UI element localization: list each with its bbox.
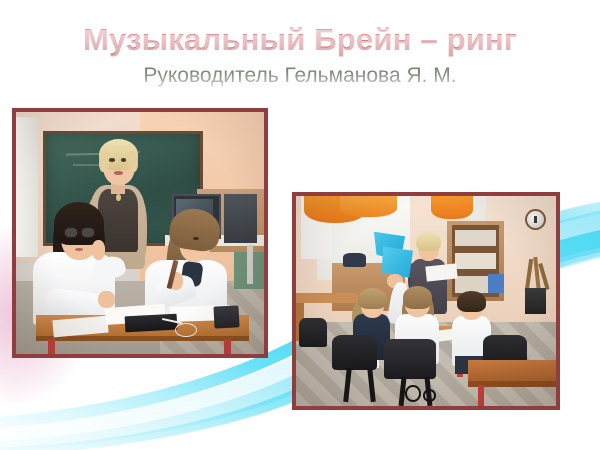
photo-classroom-teacher-and-two-students[interactable] — [12, 108, 268, 358]
photo-vignette — [16, 112, 264, 354]
photo-classroom-students-raising-hand[interactable] — [292, 192, 560, 410]
photo-left-content — [16, 112, 264, 354]
photo-right-content — [296, 196, 556, 406]
presentation-slide: Музыкальный Брейн – ринг Руководитель Ге… — [0, 0, 600, 450]
photo-vignette — [296, 196, 556, 406]
